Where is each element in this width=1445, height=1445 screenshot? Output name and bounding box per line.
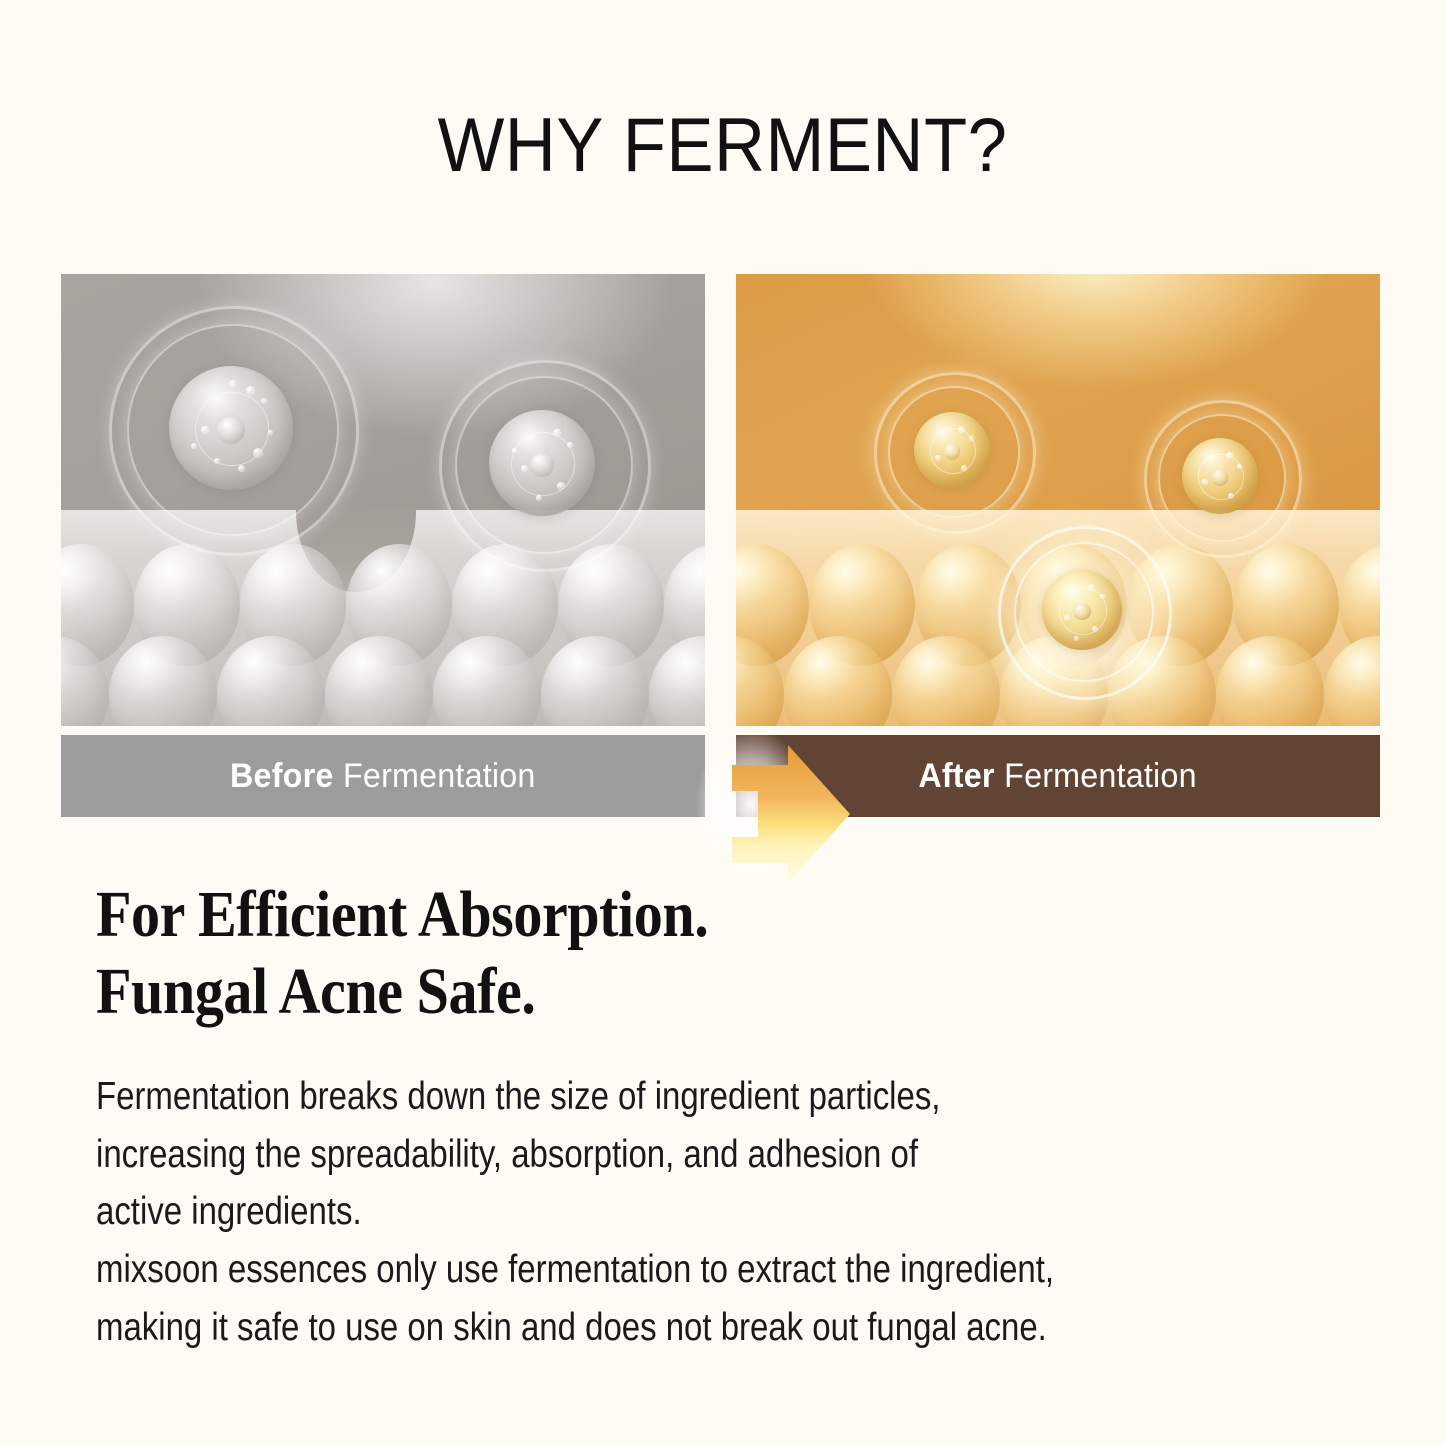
after-caption-strong: After [919,757,995,795]
body-copy: Fermentation breaks down the size of ing… [96,1068,1211,1357]
before-caption-bar: BeforeFermentation [61,735,705,817]
headline: For Efficient Absorption. Fungal Acne Sa… [96,876,1205,1030]
before-caption-strong: Before [230,757,333,795]
body-line-5: making it safe to use on skin and does n… [96,1299,1211,1357]
page-title: WHY FERMENT? [51,108,1395,184]
body-line-2: increasing the spreadability, absorption… [96,1126,1211,1184]
transformation-arrow-icon [716,739,856,889]
before-illustration [61,274,705,726]
before-after-comparison: BeforeFermentation [61,274,1380,817]
after-illustration [736,274,1380,726]
page-root: WHY FERMENT? [0,0,1445,1445]
before-pearl-row-front [61,636,705,726]
headline-line-1: For Efficient Absorption. [96,876,1205,953]
body-line-4: mixsoon essences only use fermentation t… [96,1241,1211,1299]
before-skin-surface [61,510,705,726]
before-panel: BeforeFermentation [61,274,705,817]
body-line-1: Fermentation breaks down the size of ing… [96,1068,1211,1126]
before-caption-light: Fermentation [343,757,536,795]
body-line-3: active ingredients. [96,1183,1211,1241]
after-caption-light: Fermentation [1005,757,1198,795]
headline-line-2: Fungal Acne Safe. [96,953,1205,1030]
